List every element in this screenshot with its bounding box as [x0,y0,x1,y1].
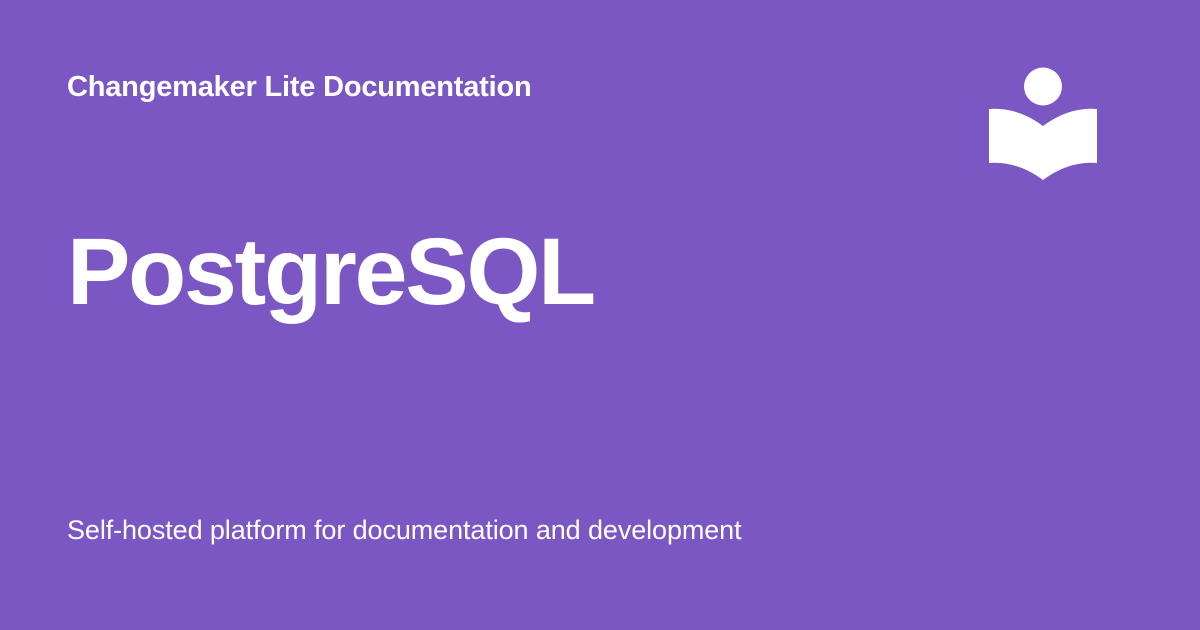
page-title: PostgreSQL [67,220,594,324]
open-book-reader-icon [988,64,1100,180]
social-card: Changemaker Lite Documentation PostgreSQ… [0,0,1200,630]
brand-title: Changemaker Lite Documentation [67,69,1133,105]
brand-row: Changemaker Lite Documentation [67,69,1133,109]
page-subtitle: Self-hosted platform for documentation a… [67,513,742,547]
